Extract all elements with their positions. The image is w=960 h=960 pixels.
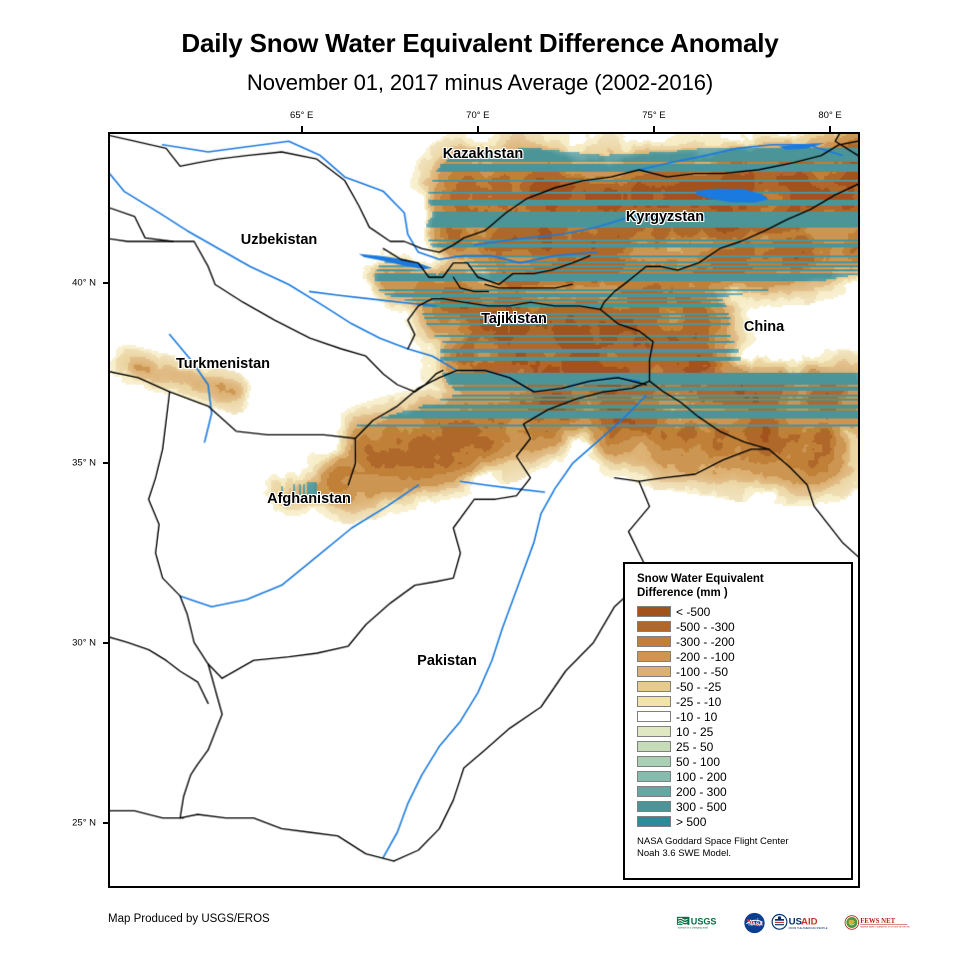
map-page: Daily Snow Water Equivalent Difference A… (0, 0, 960, 960)
legend-label: -500 - -300 (676, 621, 735, 633)
country-label-uzbekistan: Uzbekistan (241, 232, 318, 248)
legend-label: -100 - -50 (676, 666, 728, 678)
footer-credit: Map Produced by USGS/EROS (108, 913, 270, 925)
lat-tick-label: 40° N (56, 278, 96, 289)
legend-swatch (637, 681, 671, 693)
legend-swatch (637, 636, 671, 648)
svg-text:FAMINE EARLY WARNING SYSTEMS N: FAMINE EARLY WARNING SYSTEMS NETWORK (860, 926, 910, 929)
legend-swatch (637, 786, 671, 798)
legend-label: -25 - -10 (676, 696, 721, 708)
lat-tick-label: 30° N (56, 638, 96, 649)
legend-entry: -200 - -100 (637, 649, 841, 664)
svg-text:FEWS NET: FEWS NET (860, 918, 895, 925)
legend-swatch (637, 816, 671, 828)
country-label-tajikistan: Tajikistan (481, 311, 547, 327)
svg-text:US: US (789, 917, 803, 928)
legend-entry: -25 - -10 (637, 694, 841, 709)
legend-entry: -10 - 10 (637, 709, 841, 724)
page-title: Daily Snow Water Equivalent Difference A… (0, 28, 960, 59)
lon-tick-label: 75° E (642, 110, 665, 121)
legend-label: 25 - 50 (676, 741, 713, 753)
legend-entry: > 500 (637, 814, 841, 829)
legend-entry: -50 - -25 (637, 679, 841, 694)
legend-panel: Snow Water Equivalent Difference (mm ) <… (623, 562, 853, 880)
legend-swatch (637, 756, 671, 768)
legend-label: -10 - 10 (676, 711, 717, 723)
legend-credit: NASA Goddard Space Flight Center Noah 3.… (637, 836, 841, 860)
legend-entry: 25 - 50 (637, 739, 841, 754)
legend-swatch (637, 726, 671, 738)
svg-text:FROM THE AMERICAN PEOPLE: FROM THE AMERICAN PEOPLE (789, 926, 828, 930)
lat-tick-label: 35° N (56, 458, 96, 469)
svg-text:AID: AID (801, 917, 818, 928)
country-label-china: China (744, 319, 784, 335)
country-label-kazakhstan: Kazakhstan (443, 146, 524, 162)
legend-label: -50 - -25 (676, 681, 721, 693)
lon-tick-label: 65° E (290, 110, 313, 121)
legend-entry: 10 - 25 (637, 724, 841, 739)
page-subtitle: November 01, 2017 minus Average (2002-20… (0, 70, 960, 96)
legend-label: 50 - 100 (676, 756, 720, 768)
legend-swatch (637, 741, 671, 753)
agency-logos: USGS science for a changing world NASA U… (676, 908, 912, 938)
legend-entry: 300 - 500 (637, 799, 841, 814)
legend-entry: 200 - 300 (637, 784, 841, 799)
lon-tick-label: 70° E (466, 110, 489, 121)
legend-swatch (637, 801, 671, 813)
legend-label: 10 - 25 (676, 726, 713, 738)
legend-entry: 100 - 200 (637, 769, 841, 784)
usgs-logo: USGS science for a changing world (676, 911, 738, 935)
legend-entry: < -500 (637, 604, 841, 619)
country-label-pakistan: Pakistan (417, 653, 477, 669)
svg-text:science for a changing world: science for a changing world (678, 927, 709, 930)
legend-entry: 50 - 100 (637, 754, 841, 769)
legend-swatch (637, 666, 671, 678)
legend-swatch (637, 771, 671, 783)
fewsnet-logo: FEWS NET FAMINE EARLY WARNING SYSTEMS NE… (844, 911, 912, 935)
legend-label: 300 - 500 (676, 801, 727, 813)
legend-label: 200 - 300 (676, 786, 727, 798)
legend-title: Snow Water Equivalent Difference (mm ) (637, 572, 841, 600)
legend-entry: -500 - -300 (637, 619, 841, 634)
legend-label: -200 - -100 (676, 651, 735, 663)
legend-swatch (637, 696, 671, 708)
legend-label: 100 - 200 (676, 771, 727, 783)
country-label-kyrgyzstan: Kyrgyzstan (626, 209, 704, 225)
legend-label: < -500 (676, 606, 710, 618)
legend-swatch (637, 711, 671, 723)
svg-text:NASA: NASA (748, 922, 763, 928)
legend-swatch (637, 651, 671, 663)
legend-label: -300 - -200 (676, 636, 735, 648)
legend-swatch (637, 606, 671, 618)
nasa-logo: NASA (743, 911, 766, 935)
lon-tick-label: 80° E (818, 110, 841, 121)
svg-text:USGS: USGS (691, 916, 717, 926)
legend-entry: -300 - -200 (637, 634, 841, 649)
legend-swatch (637, 621, 671, 633)
lat-tick-label: 25° N (56, 818, 96, 829)
country-label-afghanistan: Afghanistan (267, 491, 351, 507)
legend-entry: -100 - -50 (637, 664, 841, 679)
legend-label: > 500 (676, 816, 706, 828)
country-label-turkmenistan: Turkmenistan (176, 356, 270, 372)
usaid-logo: US AID FROM THE AMERICAN PEOPLE (771, 911, 839, 935)
legend-rows: < -500-500 - -300-300 - -200-200 - -100-… (637, 604, 841, 829)
